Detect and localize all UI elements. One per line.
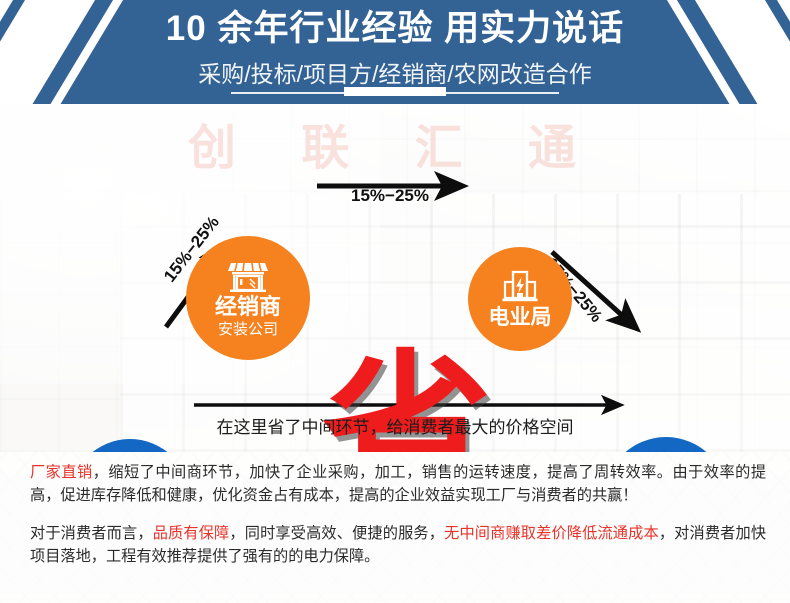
footer-paragraph-2: 对于消费者而言，品质有保障，同时享受高效、便捷的服务，无中间商赚取差价降低流通成… <box>30 522 766 568</box>
footer-paragraph-1: 厂家直销，缩短了中间商环节，加快了企业采购，加工，销售的运转速度，提高了周转效率… <box>30 461 766 507</box>
power-building-icon <box>502 270 538 302</box>
node-bureau-label: 电业局 <box>489 307 552 328</box>
footer-text-block: 厂家直销，缩短了中间商环节，加快了企业采购，加工，销售的运转速度，提高了周转效率… <box>0 452 790 603</box>
shop-icon <box>228 260 268 292</box>
header-title: 10 余年行业经验 用实力说话 <box>0 9 790 49</box>
node-bureau[interactable]: 电业局 <box>468 247 572 351</box>
footer-paragraph-2-middle: ，同时享受高效、便捷的服务， <box>229 525 444 542</box>
arrow-label-dealer-to-bureau: 15%−25% <box>351 186 429 206</box>
node-dealer-sublabel: 安装公司 <box>218 322 278 337</box>
promo-banner-page: 10 余年行业经验 用实力说话 采购/投标/项目方/经销商/农网改造合作 创 联… <box>0 0 790 603</box>
page-header: 10 余年行业经验 用实力说话 采购/投标/项目方/经销商/农网改造合作 <box>0 0 790 104</box>
node-dealer[interactable]: 经销商 安装公司 <box>186 236 310 360</box>
node-dealer-label: 经销商 <box>215 296 281 318</box>
footer-paragraph-2-lead: 对于消费者而言， <box>30 525 153 542</box>
diagram-bottom-caption: 在这里省了中间环节，给消费者最大的价格空间 <box>0 413 790 438</box>
footer-highlight-quality: 品质有保障 <box>153 525 230 542</box>
header-divider-center <box>344 87 446 96</box>
header-content: 10 余年行业经验 用实力说话 采购/投标/项目方/经销商/农网改造合作 <box>0 0 790 104</box>
footer-paragraph-1-rest: ，缩短了中间商环节，加快了企业采购，加工，销售的运转速度，提高了周转效率。由于效… <box>30 464 766 504</box>
diagram-stage: 创 联 汇 通 15%−25% 15%−25% 15%−25% 省 在这里省了中… <box>0 104 790 452</box>
footer-highlight-no-middleman: 无中间商赚取差价降低流通成本 <box>444 525 659 542</box>
header-subtitle: 采购/投标/项目方/经销商/农网改造合作 <box>0 55 790 89</box>
footer-highlight-factory-direct: 厂家直销 <box>30 464 93 481</box>
